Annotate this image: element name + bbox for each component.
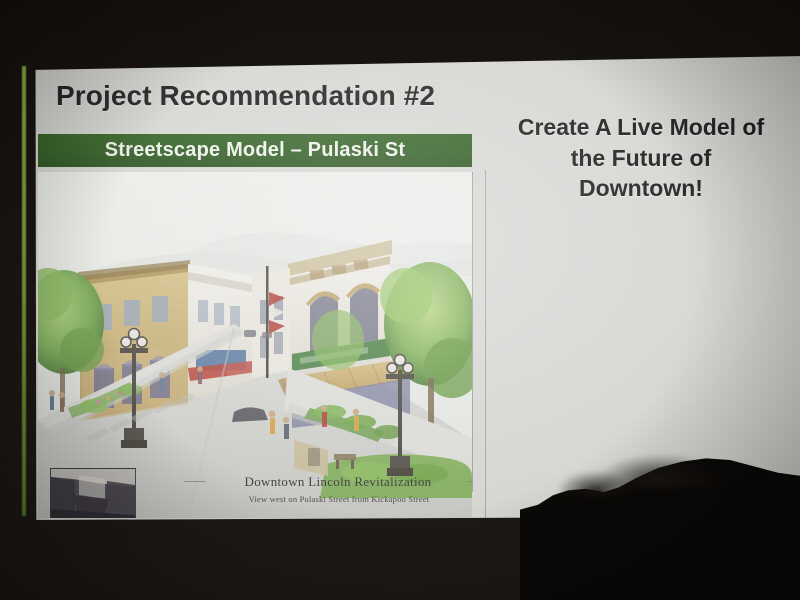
- streetscape-artwork: Downtown Lincoln Revitalization View wes…: [38, 172, 472, 518]
- artwork-frame-inner-rule: [472, 172, 473, 492]
- section-header-label: Streetscape Model – Pulaski St: [105, 139, 406, 162]
- caption-left-rule: [184, 481, 206, 482]
- headline-line-2: the Future of: [486, 143, 796, 174]
- artwork-subcaption: View west on Pulaski Street from Kickapo…: [198, 494, 472, 504]
- artwork-frame-outer-rule: [485, 170, 486, 518]
- presentation-slide: Project Recommendation #2 Streetscape Mo…: [34, 56, 800, 520]
- section-header-band: Streetscape Model – Pulaski St: [38, 134, 472, 167]
- artwork-caption: Downtown Lincoln Revitalization: [208, 474, 468, 490]
- caption-right-rule: [468, 481, 472, 482]
- slide-title: Project Recommendation #2: [56, 80, 435, 112]
- streetscape-illustration: [38, 172, 472, 518]
- headline-line-3: Downtown!: [486, 173, 796, 204]
- audience-hair-wisp-secondary: [556, 470, 636, 496]
- slide-headline: Create A Live Model of the Future of Dow…: [486, 112, 796, 204]
- projected-slide-photo: Project Recommendation #2 Streetscape Mo…: [0, 0, 800, 600]
- historic-photo-inset: [50, 468, 136, 518]
- headline-line-1: Create A Live Model of: [486, 112, 796, 143]
- historic-photo-image: [51, 469, 135, 518]
- screen-left-accent-strip: [22, 66, 26, 516]
